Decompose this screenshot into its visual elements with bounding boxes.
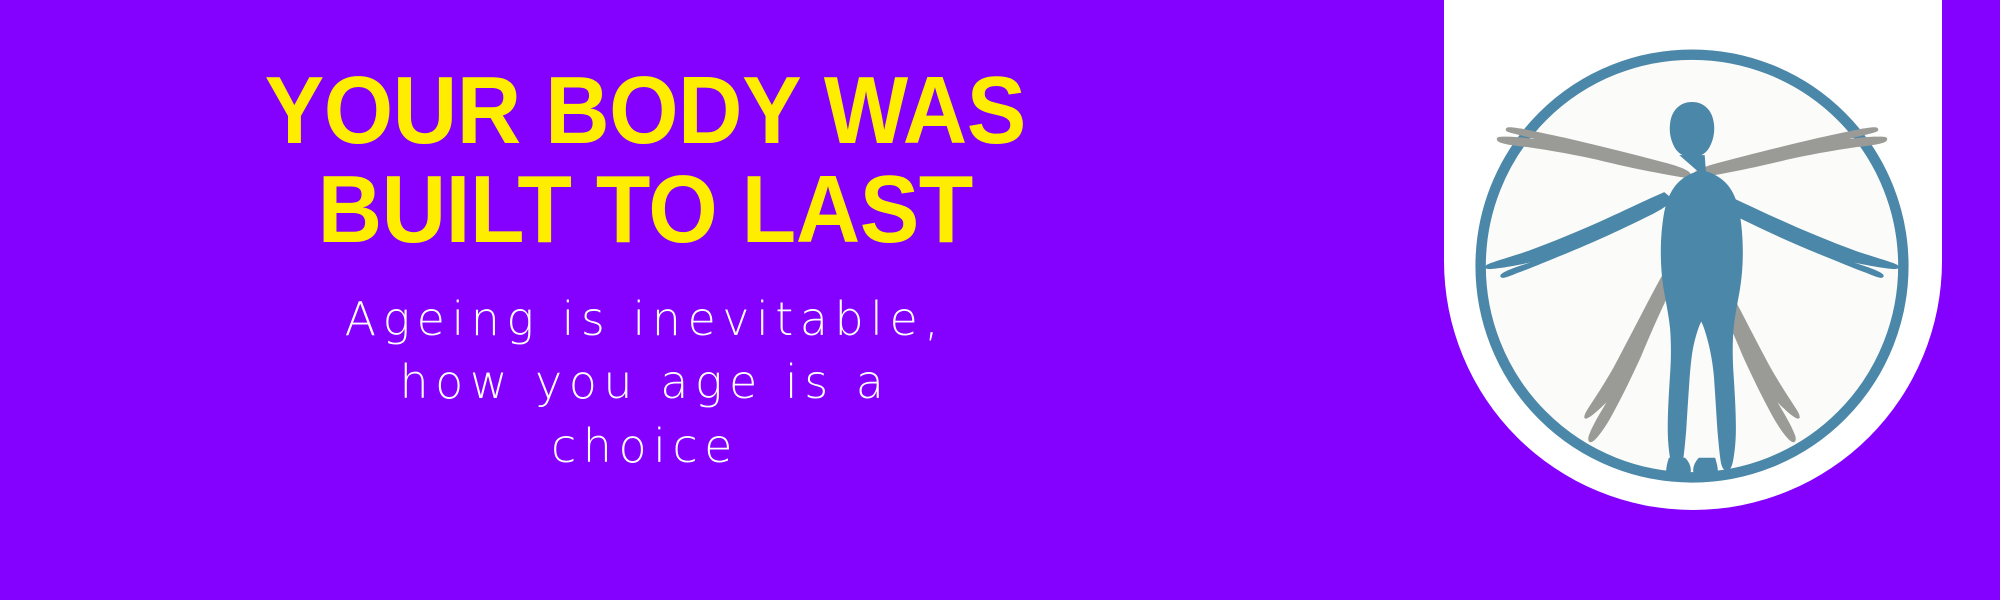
subtitle-line-1: Ageing is inevitable, bbox=[345, 288, 946, 351]
subtitle-line-3: choice bbox=[345, 415, 946, 478]
vitruvian-man-icon bbox=[1461, 35, 1923, 497]
banner: YOUR BODY WAS BUILT TO LAST Ageing is in… bbox=[0, 0, 2000, 600]
subtitle: Ageing is inevitable, how you age is a c… bbox=[345, 260, 946, 478]
subtitle-line-2: how you age is a bbox=[345, 351, 946, 414]
headline-line-2: BUILT TO LAST bbox=[264, 161, 1025, 260]
headline-line-1: YOUR BODY WAS bbox=[264, 62, 1025, 161]
page-title: YOUR BODY WAS BUILT TO LAST bbox=[264, 62, 1025, 260]
text-content-block: YOUR BODY WAS BUILT TO LAST Ageing is in… bbox=[0, 0, 1290, 600]
